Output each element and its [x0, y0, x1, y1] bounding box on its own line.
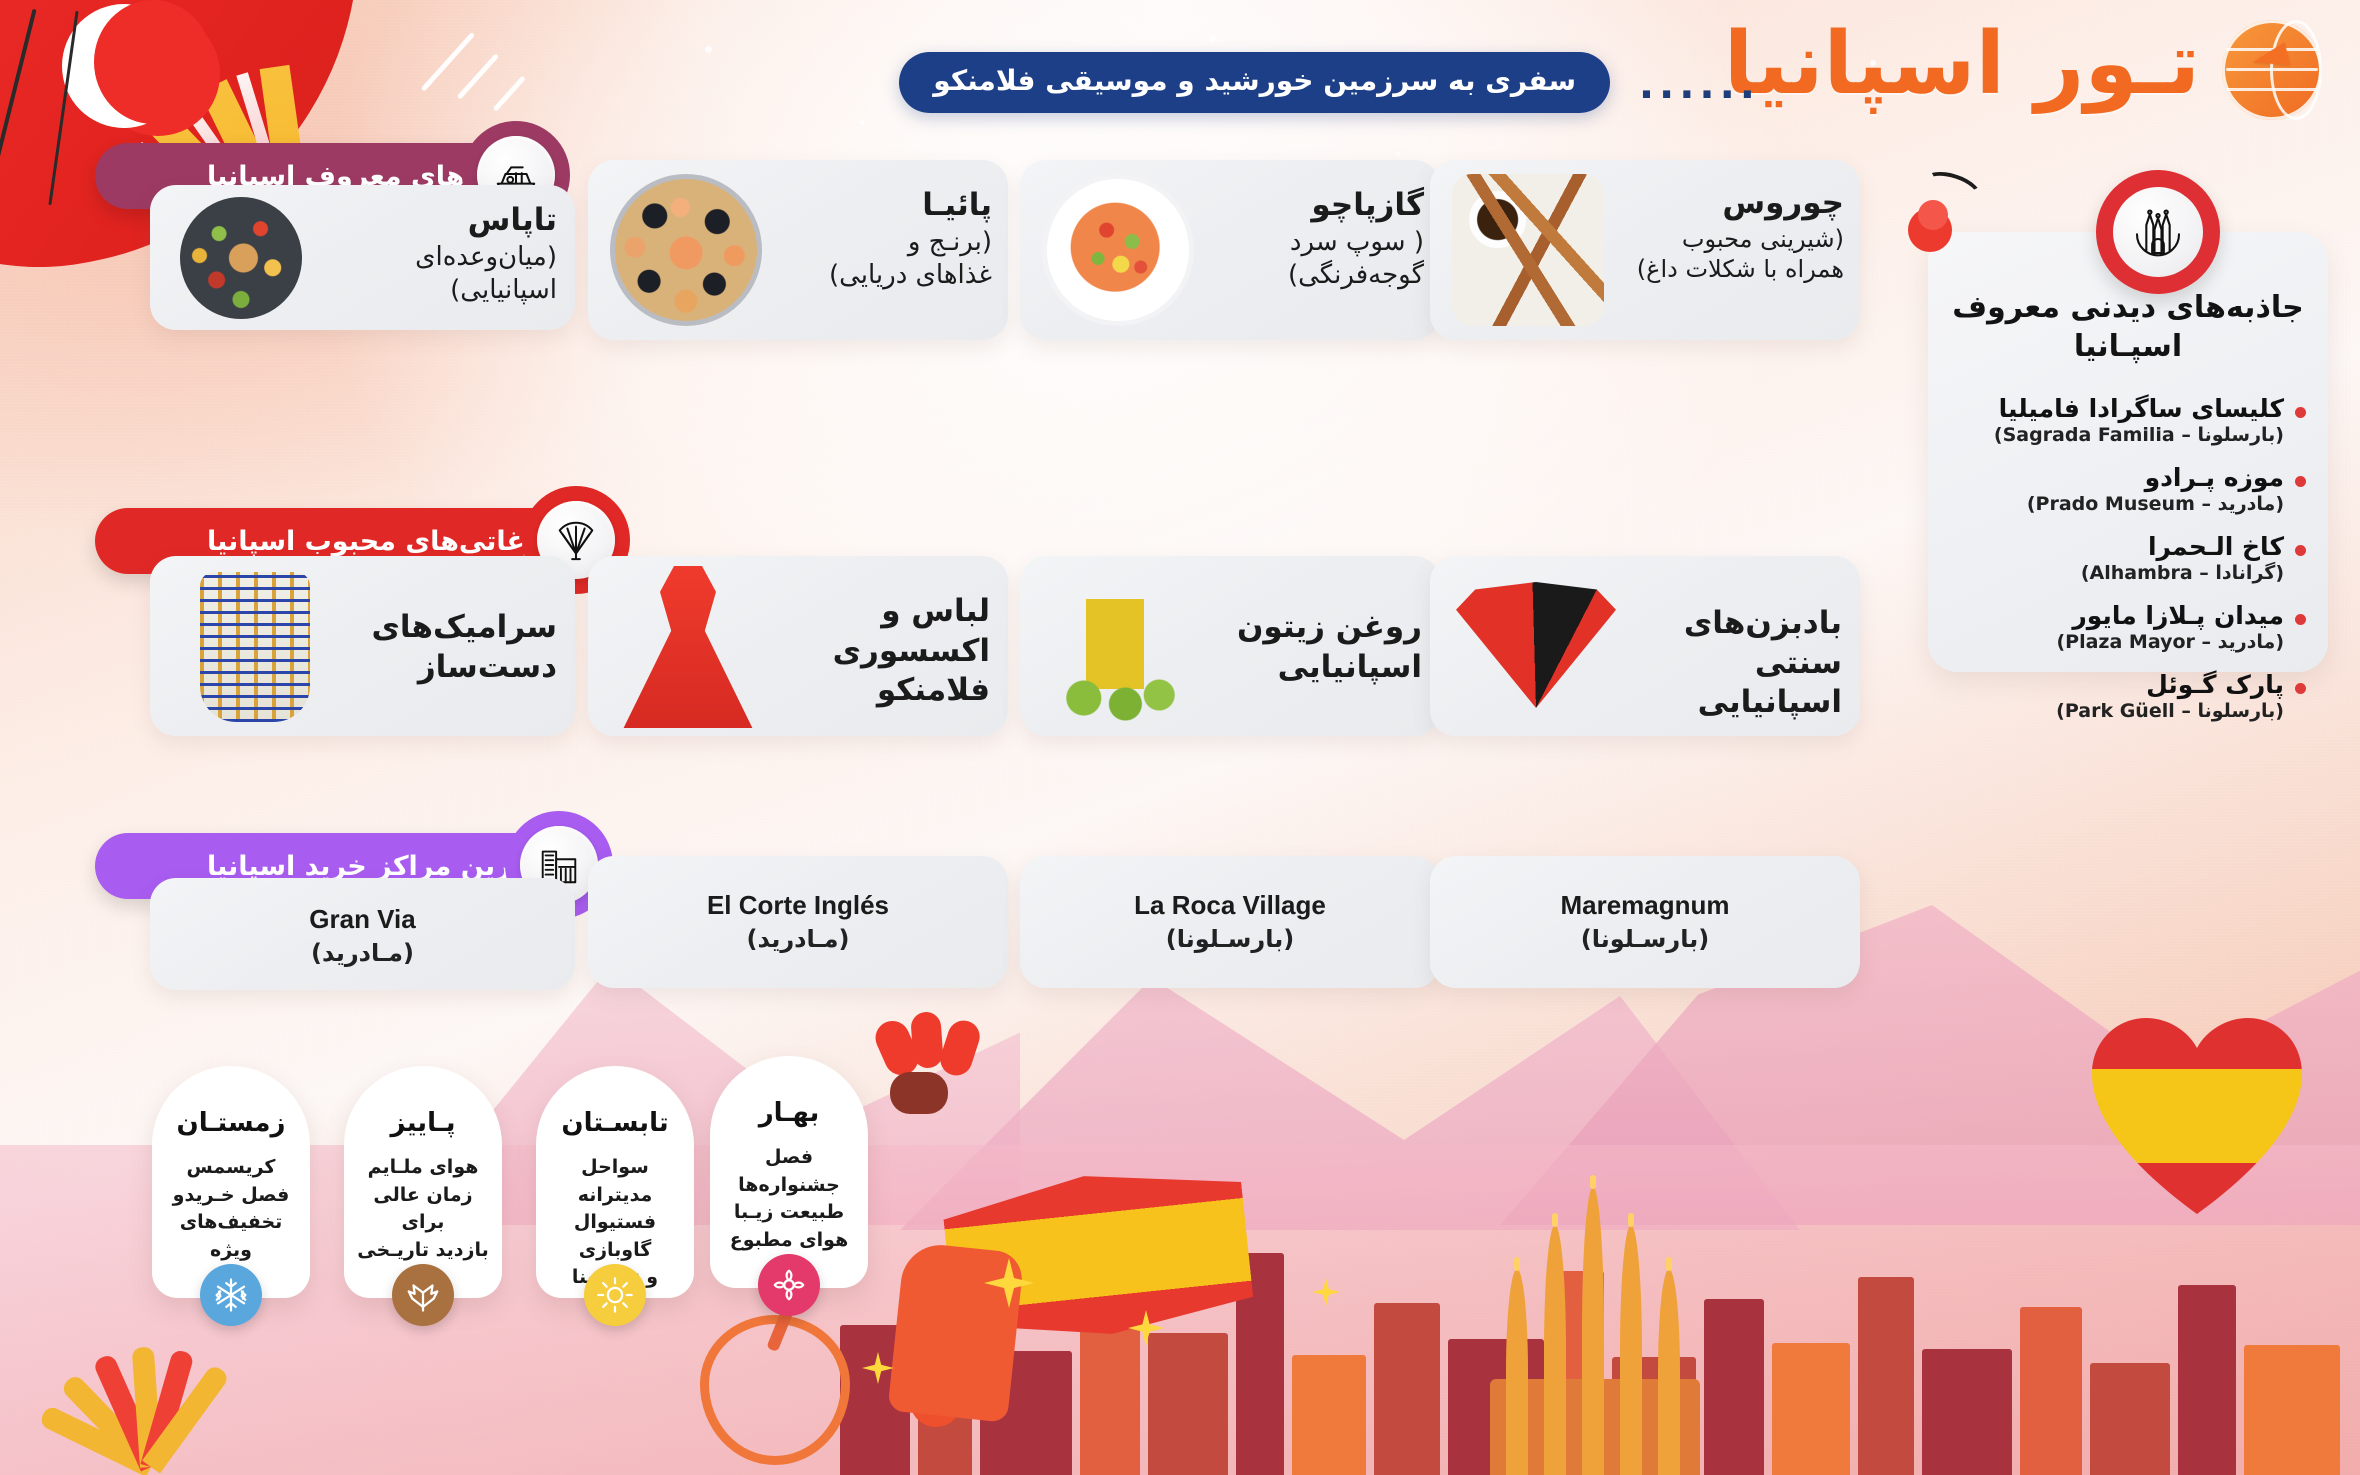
season-card-summer[interactable]: تابسـتان سواحل مدیترانه فستیوال گاوبازی … [536, 1066, 694, 1298]
bullet-dot-icon [2295, 683, 2306, 694]
page-subtitle: سفری به سرزمین خورشید و موسیقی فلامنکو [899, 52, 1610, 113]
attraction-item[interactable]: میدان پـلازا مایور (مادرید – Plaza Mayor… [1946, 601, 2310, 653]
shopping-card[interactable]: La Roca Village (بارسـلونا) [1020, 856, 1440, 988]
snowflake-icon [200, 1264, 262, 1326]
season-name: تابسـتان [536, 1108, 694, 1138]
food-title: تاپاس [317, 201, 557, 241]
page-header: تـور اسپانیا ...... سفری به سرزمین خورشی… [0, 0, 2360, 150]
attractions-list: کلیسای ساگرادا فامیلیا (بارسلونا – Sagra… [1946, 394, 2310, 739]
flamenco-dress-photo [618, 566, 758, 728]
bullet-dot-icon [2295, 407, 2306, 418]
olive-oil-photo [1050, 572, 1180, 722]
bullet-dot-icon [2295, 614, 2306, 625]
season-desc: هوای ملـایم زمان عالی برای بازدید تاریـخ… [354, 1154, 492, 1264]
attraction-name-fa: کاخ الـحمرا [1946, 532, 2284, 561]
title-dots: ...... [1639, 62, 1760, 108]
food-subtitle: (شیرینی محبوب همراه با شکلات داغ) [1606, 224, 1844, 285]
season-desc: کریسمس فصل خـریدو تخفیف‌های ویژه [162, 1154, 300, 1264]
shopping-card[interactable]: Maremagnum (بارسـلونا) [1430, 856, 1860, 988]
ceramic-vase-photo [200, 572, 310, 722]
souvenir-card[interactable]: لباس و اکسسوری فلامنکو [588, 556, 1008, 736]
souvenir-card[interactable]: سرامیک‌های دست‌ساز [150, 556, 575, 736]
bullet-dot-icon [2295, 545, 2306, 556]
shopping-name: La Roca Village [1020, 890, 1440, 921]
souvenir-title: بادبزن‌های سنتی اسپانیایی [1614, 604, 1842, 723]
season-desc: فصل جشنواره‌ها طبیعت زیـبا هوای مطبوع [720, 1144, 858, 1254]
attraction-name-en: (گرانادا – Alhambra) [1946, 562, 2284, 584]
season-card-autumn[interactable]: پـاییز هوای ملـایم زمان عالی برای بازدید… [344, 1066, 502, 1298]
food-title: چوروس [1606, 184, 1844, 224]
attractions-panel: جاذبه‌های دیدنی معروف اسپـانیا کلیسای سا… [1928, 232, 2328, 672]
section-badge-label-souvenirs: سوغاتی‌های محبوب اسپانیا [207, 526, 568, 557]
shopping-card[interactable]: El Corte Inglés (مـادرید) [588, 856, 1008, 988]
food-subtitle: (میان‌وعده‌ای اسپانیایی) [317, 241, 557, 308]
red-rose-icon [1908, 190, 1978, 252]
sagrada-familia-icon [2096, 170, 2220, 294]
attractions-title: جاذبه‌های دیدنی معروف اسپـانیا [1928, 288, 2328, 366]
paella-photo [610, 174, 762, 326]
food-card[interactable]: تاپاس (میان‌وعده‌ای اسپانیایی) [150, 185, 575, 330]
souvenir-card[interactable]: بادبزن‌های سنتی اسپانیایی [1430, 556, 1860, 736]
food-subtitle: (برنـج و غذاهای دریایی) [766, 226, 992, 293]
attraction-item[interactable]: کلیسای ساگرادا فامیلیا (بارسلونا – Sagra… [1946, 394, 2310, 446]
gazpacho-photo [1042, 174, 1194, 326]
tapas-photo [180, 197, 302, 319]
shopping-name: El Corte Inglés [588, 890, 1008, 921]
season-card-spring[interactable]: بهـار فصل جشنواره‌ها طبیعت زیـبا هوای مط… [710, 1056, 868, 1288]
attraction-name-fa: موزه پـرادو [1946, 463, 2284, 492]
food-card[interactable]: گازپاچو ( سوپ سرد گوجه‌فرنگی) [1020, 160, 1440, 340]
shopping-city: (مـادرید) [150, 939, 575, 967]
attraction-item[interactable]: موزه پـرادو (مادرید – Prado Museum) [1946, 463, 2310, 515]
churros-photo [1452, 174, 1604, 326]
souvenir-title: سرامیک‌های دست‌ساز [339, 608, 557, 687]
shopping-city: (بارسـلونا) [1020, 925, 1440, 953]
flower-base [890, 1072, 948, 1114]
attraction-item[interactable]: کاخ الـحمرا (گرانادا – Alhambra) [1946, 532, 2310, 584]
shopping-card[interactable]: Gran Via (مـادرید) [150, 878, 575, 990]
attraction-name-en: (مادرید – Plaza Mayor) [1946, 631, 2284, 653]
shopping-name: Maremagnum [1430, 890, 1860, 921]
food-title: پائیـا [766, 186, 992, 226]
souvenir-title: روغن زیتون اسپانیایی [1212, 608, 1422, 687]
souvenir-card[interactable]: روغن زیتون اسپانیایی [1020, 556, 1440, 736]
spain-flag-heart-icon [2092, 1018, 2302, 1214]
shopping-name: Gran Via [150, 904, 575, 935]
attraction-name-fa: کلیسای ساگرادا فامیلیا [1946, 394, 2284, 423]
waving-spanish-flag-icon [870, 1087, 1290, 1417]
season-name: بهـار [710, 1098, 868, 1128]
season-name: پـاییز [344, 1108, 502, 1138]
attraction-name-fa: میدان پـلازا مایور [1946, 601, 2284, 630]
section-badge-label-shopping: بهترین مراکز خرید اسپانیا [207, 851, 551, 882]
food-card[interactable]: چوروس (شیرینی محبوب همراه با شکلات داغ) [1430, 160, 1860, 340]
flower-icon [758, 1254, 820, 1316]
food-title: گازپاچو [1198, 186, 1424, 226]
souvenir-title: لباس و اکسسوری فلامنکو [782, 592, 990, 711]
attraction-name-en: (مادرید – Prado Museum) [1946, 493, 2284, 515]
season-name: زمستـان [152, 1108, 310, 1138]
leaf-icon [392, 1264, 454, 1326]
food-card[interactable]: پائیـا (برنـج و غذاهای دریایی) [588, 160, 1008, 340]
page-title: تـور اسپانیا [1724, 14, 2200, 114]
shopping-city: (بارسـلونا) [1430, 925, 1860, 953]
shopping-city: (مـادرید) [588, 925, 1008, 953]
attraction-name-en: (بارسلونا – Sagrada Familia) [1946, 424, 2284, 446]
food-subtitle: ( سوپ سرد گوجه‌فرنگی) [1198, 226, 1424, 293]
attraction-name-en: (بارسلونا – Park Güell) [1946, 700, 2284, 722]
attraction-item[interactable]: پارک گـوئل (بارسلونا – Park Güell) [1946, 670, 2310, 722]
bullet-dot-icon [2295, 476, 2306, 487]
flower-petal [910, 1011, 944, 1069]
attraction-name-fa: پارک گـوئل [1946, 670, 2284, 699]
sun-icon [584, 1264, 646, 1326]
spanish-fan-photo [1456, 582, 1616, 708]
season-card-winter[interactable]: زمستـان کریسمس فصل خـریدو تخفیف‌های ویژه [152, 1066, 310, 1298]
